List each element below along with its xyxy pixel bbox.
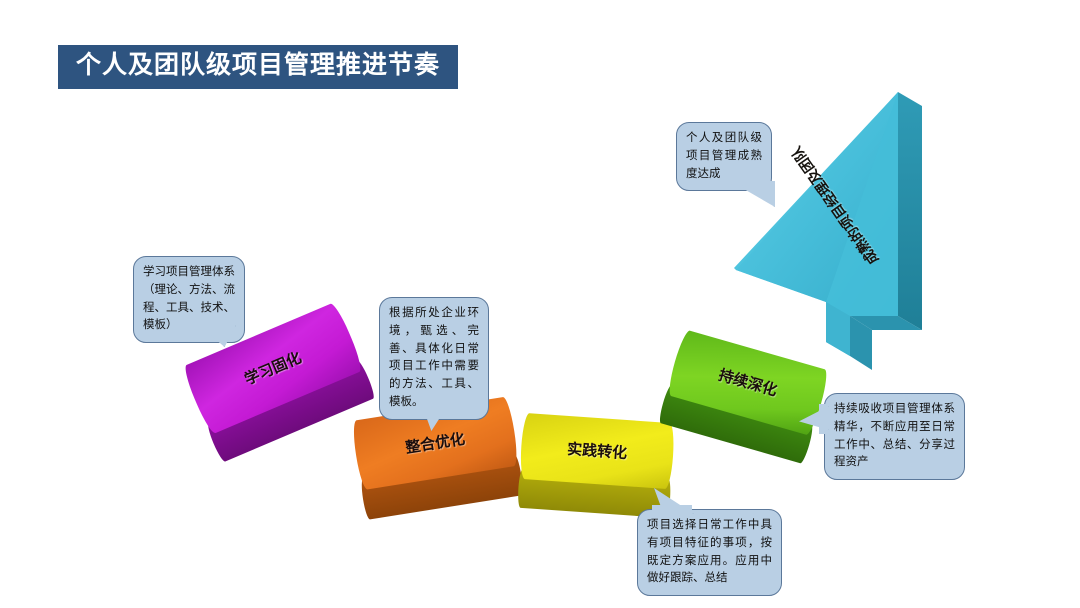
callout-goal-text: 个人及团队级项目管理成熟度达成 — [686, 132, 762, 180]
callout-practice-tail-mask — [652, 505, 692, 514]
slide-canvas: 个人及团队级项目管理推进节奏 — [0, 0, 1080, 608]
callout-learn[interactable]: 学习项目管理体系（理论、方法、流程、工具、技术、模板） — [133, 256, 245, 343]
callout-deepen[interactable]: 持续吸收项目管理体系精华，不断应用至日常工作中、总结、分享过程资产 — [824, 393, 965, 480]
callout-deepen-tail-mask — [819, 404, 828, 434]
callout-deepen-text: 持续吸收项目管理体系精华，不断应用至日常工作中、总结、分享过程资产 — [834, 403, 955, 468]
callout-practice[interactable]: 项目选择日常工作中具有项目特征的事项，按既定方案应用。应用中做好跟踪、总结 — [637, 509, 782, 596]
callout-integrate[interactable]: 根据所处企业环境，甄选、完善、具体化日常项目工作中需要的方法、工具、模板。 — [379, 297, 489, 420]
callout-learn-tail — [206, 325, 236, 347]
callout-integrate-tail-mask — [418, 400, 450, 408]
callout-goal[interactable]: 个人及团队级项目管理成熟度达成 — [676, 122, 772, 191]
page-title: 个人及团队级项目管理推进节奏 — [58, 45, 458, 89]
callout-learn-tail-mask — [198, 321, 232, 328]
callout-practice-text: 项目选择日常工作中具有项目特征的事项，按既定方案应用。应用中做好跟踪、总结 — [647, 519, 772, 584]
callout-goal-tail-mask — [729, 176, 765, 184]
callout-integrate-text: 根据所处企业环境，甄选、完善、具体化日常项目工作中需要的方法、工具、模板。 — [389, 307, 479, 408]
